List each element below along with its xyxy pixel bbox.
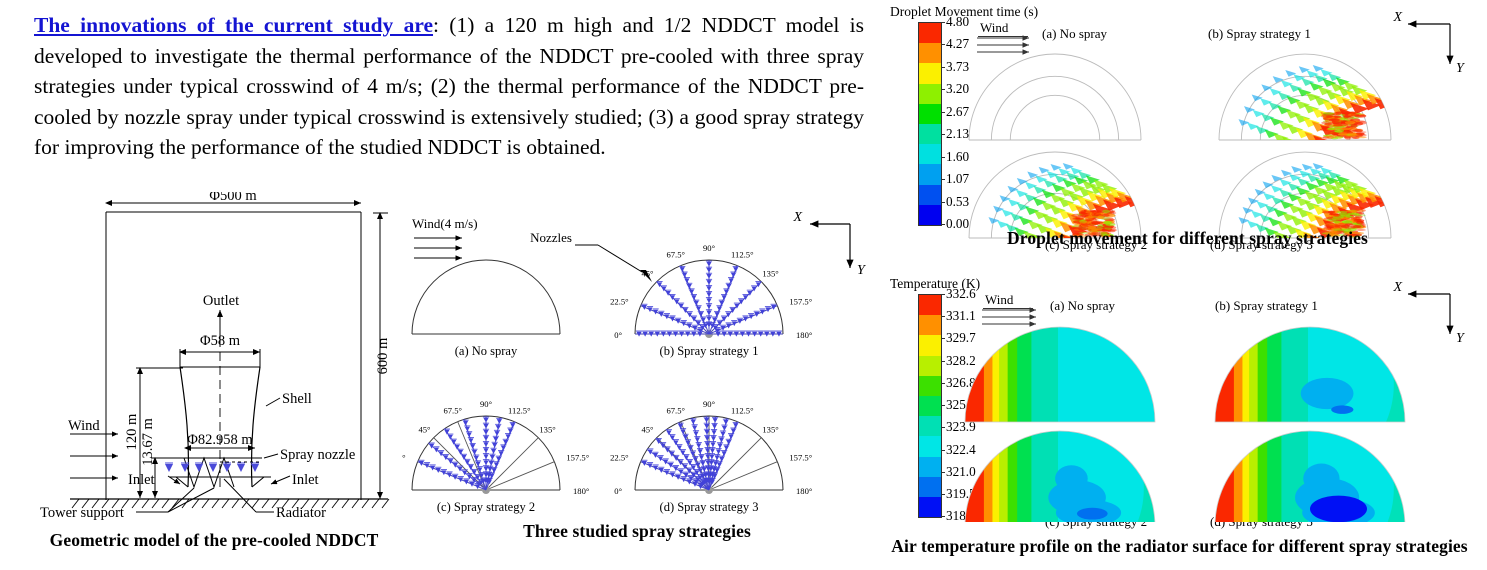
nozzle-glyph: [470, 443, 476, 449]
nozzle-glyph: [492, 442, 498, 448]
nozzle-glyph: [653, 309, 659, 315]
colorbar-tick-label: 4.80: [946, 14, 969, 30]
droplet-movement-figure: Droplet Movement time (s) 4.804.273.733.…: [890, 4, 1485, 262]
nozzle-glyph: [716, 306, 722, 312]
nozzle-glyph: [503, 439, 509, 445]
nozzle-glyph: [675, 318, 681, 324]
nozzle-glyph: [686, 323, 692, 329]
droplet-deposit: [1327, 218, 1337, 221]
nozzle-glyph: [728, 434, 734, 440]
polar-spoke: [709, 438, 761, 490]
nozzle-glyph: [494, 430, 500, 436]
nozzle-glyph: [658, 311, 664, 317]
colorbar-segment: [919, 104, 941, 124]
droplet-deposit: [1333, 214, 1340, 217]
geo-label-inlet-left: Inlet: [128, 472, 155, 488]
geo-label-tower-height: 120 m: [124, 413, 140, 450]
nozzle-glyph: [718, 437, 724, 443]
colorbar-segment: [919, 84, 941, 104]
droplet-streak: [1248, 197, 1259, 204]
colorbar-tick-mark: [941, 472, 945, 473]
nozzle-glyph: [464, 426, 470, 432]
droplet-deposit: [1342, 220, 1352, 223]
droplet-deposit: [1345, 134, 1355, 137]
nozzle-glyph: [692, 456, 698, 462]
nozzle-glyph: [641, 460, 647, 466]
colorbar-tick-label: 332.6: [946, 286, 976, 302]
droplet-deposit: [1323, 112, 1335, 114]
temperature-panel-0: [963, 325, 1157, 424]
droplet-deposit: [1102, 210, 1110, 213]
nozzle-glyph: [721, 450, 727, 456]
nozzle-glyph: [711, 429, 717, 435]
nozzle-glyph: [496, 418, 502, 424]
temperature-figure: Temperature (K) 332.6331.1329.7328.2326.…: [890, 276, 1485, 538]
colorbar-segment: [919, 23, 941, 43]
droplet-deposit: [1321, 121, 1332, 124]
polar-angle-tick: 90°: [703, 243, 716, 253]
nozzle-glyph: [700, 460, 706, 466]
spray-strategies-figure: Wind(4 m/s) (a) No spray Nozzles X Y 0°2…: [402, 212, 872, 522]
geo-label-radiator-dia: Φ82.958 m: [187, 432, 253, 448]
temperature-field: [963, 325, 1157, 424]
droplet-panel-0: [969, 54, 1141, 140]
temperature-panel-label-a: (a) No spray: [1050, 298, 1115, 314]
nozzle-glyph: [435, 467, 441, 473]
colorbar-segment: [919, 356, 941, 376]
polar-angle-tick: 157.5°: [789, 297, 812, 307]
droplet-streak: [1243, 207, 1254, 214]
nozzle-glyph: [483, 454, 489, 460]
droplet-deposit: [1334, 129, 1344, 132]
droplet-streak: [1255, 189, 1266, 196]
nozzle-glyph: [675, 474, 681, 480]
nozzle-glyph: [441, 470, 447, 476]
droplet-deposit: [1344, 115, 1352, 117]
nozzle-glyph: [684, 278, 690, 284]
nozzle-glyph: [765, 307, 771, 313]
temperature-band: [1281, 325, 1312, 424]
polar-angle-tick: 90°: [480, 399, 493, 409]
droplet-deposit: [1351, 113, 1360, 116]
polar-angle-tick: 157.5°: [789, 453, 812, 463]
colorbar-segment: [919, 396, 941, 416]
nozzle-glyph: [716, 462, 722, 468]
droplet-deposit: [1085, 216, 1093, 218]
colorbar-tick-mark: [941, 316, 945, 317]
colorbar-tick-mark: [941, 516, 945, 517]
colorbar-segment: [919, 205, 941, 225]
polar-angle-tick: 22.5°: [402, 453, 406, 463]
nozzle-glyph: [721, 425, 727, 431]
temperature-coldest-core: [1331, 405, 1353, 414]
nozzle-glyph: [495, 424, 501, 430]
spray-panel-c: 0°22.5°45°67.5°90°112.5°135°157.5°180°(c…: [402, 399, 590, 514]
nozzle-glyph: [490, 448, 496, 454]
temperature-coldest-core: [1077, 508, 1108, 520]
nozzle-glyph: [710, 442, 716, 448]
droplet-contours: [950, 40, 1485, 245]
temperature-cool-pool: [1303, 464, 1339, 494]
temperature-panel-2: [963, 429, 1157, 522]
droplet-deposit: [1353, 217, 1360, 220]
colorbar-segment: [919, 376, 941, 396]
polar-angle-tick: 0°: [614, 486, 622, 496]
droplet-streak: [1000, 195, 1011, 202]
polar-angle-tick: 45°: [641, 424, 654, 434]
nozzle-glyph: [705, 448, 711, 454]
droplet-deposit: [1331, 121, 1340, 124]
polar-angle-tick: 180°: [573, 486, 590, 496]
nozzle-glyph: [719, 300, 725, 306]
nozzle-glyph: [669, 472, 675, 478]
colorbar-segment: [919, 416, 941, 436]
nozzle-glyph: [698, 454, 704, 460]
nozzles-label: Nozzles: [530, 230, 572, 245]
nozzle-glyph: [647, 307, 653, 313]
temperature-panel-3: [1213, 429, 1407, 522]
droplet-deposit: [1072, 218, 1084, 220]
droplet-axis-x-label: X: [1392, 12, 1402, 25]
temperature-caption: Air temperature profile on the radiator …: [872, 536, 1487, 557]
nozzle-glyph: [706, 279, 712, 285]
nozzle-glyph: [510, 422, 516, 428]
nozzle-glyph: [647, 463, 653, 469]
nozzle-glyph: [706, 273, 712, 279]
nozzle-glyph: [695, 306, 701, 312]
spray-strategies-caption: Three studied spray strategies: [402, 521, 872, 542]
polar-angle-tick: 180°: [796, 486, 813, 496]
nozzle-glyph: [771, 304, 777, 310]
temperature-panel-1: [1213, 325, 1407, 424]
nozzle-glyph: [483, 417, 489, 423]
inlet-leader-right: [271, 476, 290, 484]
droplet-streak: [1374, 98, 1393, 109]
nozzle-glyph: [737, 318, 743, 324]
colorbar-segment: [919, 295, 941, 315]
polar-angle-tick: 22.5°: [610, 453, 629, 463]
droplet-deposit: [1321, 115, 1333, 118]
nozzle-glyph: [706, 310, 712, 316]
nozzle-glyph: [715, 449, 721, 455]
colorbar-tick-mark: [941, 361, 945, 362]
nozzle-glyph: [706, 298, 712, 304]
spray-nozzle-glyphs: [165, 463, 259, 472]
nozzle-glyph: [723, 419, 729, 425]
nozzle-glyph: [726, 439, 732, 445]
polar-angle-tick: 67.5°: [666, 250, 685, 260]
nozzle-glyph: [500, 445, 506, 451]
droplet-streak: [993, 206, 1004, 213]
nozzle-glyph: [717, 443, 723, 449]
droplet-deposit: [1356, 221, 1364, 224]
nozzle-glyph: [754, 311, 760, 317]
colorbar-segment: [919, 335, 941, 355]
colorbar-segment: [919, 63, 941, 83]
nozzle-glyph: [696, 443, 702, 449]
droplet-deposit: [1089, 223, 1097, 226]
droplet-streak: [1273, 133, 1288, 142]
droplet-deposit: [1354, 214, 1366, 216]
spray-panel-d: 0°22.5°45°67.5°90°112.5°135°157.5°180°(d…: [610, 399, 813, 514]
temperature-cool-pool: [1301, 378, 1354, 409]
spray-panel-label-c: (c) Spray strategy 2: [437, 500, 535, 514]
geo-label-domain-height: 600 m: [375, 337, 391, 374]
spray-axis-x-label: X: [792, 212, 802, 225]
nozzle-glyph: [726, 323, 732, 329]
temperature-band: [1058, 325, 1100, 424]
nozzle-glyph: [471, 449, 477, 455]
geo-label-inlet-right: Inlet: [292, 472, 319, 488]
droplet-deposit: [1336, 111, 1344, 113]
nozzle-glyph: [691, 294, 697, 300]
nozzle-glyph: [720, 325, 726, 331]
nozzle-glyph: [730, 428, 736, 434]
nozzle-glyph: [489, 454, 495, 460]
nozzle-glyph: [692, 425, 698, 431]
nozzle-glyph: [641, 304, 647, 310]
droplet-deposit: [1106, 223, 1116, 226]
nozzle-glyph: [493, 462, 499, 468]
droplet-deposit: [1356, 136, 1366, 138]
temperature-band: [1096, 325, 1157, 424]
nozzle-glyph: [759, 309, 765, 315]
spray-panel-label-b: (b) Spray strategy 1: [660, 344, 759, 358]
colorbar-tick-mark: [941, 383, 945, 384]
nozzle-glyph: [706, 304, 712, 310]
nozzle-glyph: [733, 266, 739, 272]
nozzle-glyph: [681, 321, 687, 327]
guide-arc: [991, 76, 1118, 140]
guide-arc: [1010, 95, 1099, 140]
nozzle-glyph: [462, 420, 468, 426]
temperature-field: [1213, 429, 1407, 522]
nozzles-leader: [575, 245, 642, 272]
colorbar-segment: [919, 497, 941, 517]
geo-label-throat: Φ58 m: [200, 333, 241, 349]
temperature-panel-label-b: (b) Spray strategy 1: [1215, 298, 1318, 314]
nozzle-glyph: [714, 311, 720, 317]
temperature-band: [1031, 325, 1062, 424]
polar-angle-tick: 157.5°: [566, 453, 589, 463]
polar-angle-tick: 0°: [614, 330, 622, 340]
geometric-model-caption: Geometric model of the pre-cooled NDDCT: [28, 530, 400, 551]
geo-label-inlet-height: 13.67 m: [140, 418, 156, 466]
colorbar-segment: [919, 164, 941, 184]
spray-wind-label: Wind(4 m/s): [412, 216, 478, 231]
temperature-field: [1213, 325, 1407, 424]
nozzle-glyph: [468, 438, 474, 444]
nozzle-glyph: [698, 311, 704, 317]
spray-panel-a: [412, 260, 560, 334]
colorbar-gradient: [918, 294, 942, 518]
temperature-field: [963, 429, 1157, 522]
nozzle-glyph: [496, 456, 502, 462]
polar-angle-tick: 112.5°: [731, 406, 754, 416]
nozzle-glyph: [704, 441, 710, 447]
polar-angle-tick: 135°: [762, 424, 779, 434]
spray-wind-arrows: [414, 238, 462, 258]
nozzle-glyph: [697, 448, 703, 454]
nozzle-glyph: [714, 455, 720, 461]
nozzle-glyph: [505, 434, 511, 440]
polar-angle-tick: 112.5°: [508, 406, 531, 416]
guide-arc: [969, 54, 1141, 140]
nozzle-glyph: [483, 441, 489, 447]
droplet-deposit: [1346, 131, 1353, 133]
nozzle-glyph: [706, 285, 712, 291]
nozzle-glyph: [726, 283, 732, 289]
droplet-deposit: [1337, 211, 1348, 214]
spray-nozzle-leader: [264, 454, 278, 458]
intro-lead: The innovations of the current study are: [34, 13, 433, 37]
nozzle-glyph: [733, 422, 739, 428]
spray-axis-indicator: [810, 224, 850, 268]
nozzle-glyph: [719, 456, 725, 462]
temperature-contours: [950, 314, 1485, 522]
droplet-deposit: [1356, 132, 1365, 135]
geo-label-outlet: Outlet: [203, 293, 239, 309]
colorbar-tick-mark: [941, 224, 945, 225]
nozzle-glyph: [706, 261, 712, 267]
nozzle-glyph: [653, 465, 659, 471]
nozzle-glyph: [430, 465, 436, 471]
colorbar-tick-mark: [941, 338, 945, 339]
droplet-panel-1: [1219, 54, 1393, 147]
nozzle-glyph: [742, 316, 748, 322]
nozzle-glyph: [706, 291, 712, 297]
colorbar-segment: [919, 457, 941, 477]
nozzle-glyph: [728, 278, 734, 284]
spray-panel-label-d: (d) Spray strategy 3: [660, 500, 759, 514]
nozzle-glyph: [498, 450, 504, 456]
polar-angle-tick: 180°: [796, 330, 813, 340]
nozzle-glyph: [679, 266, 685, 272]
droplet-streak: [1304, 132, 1322, 143]
polar-angle-tick: 22.5°: [610, 297, 629, 307]
droplet-deposit: [1328, 127, 1336, 130]
colorbar-tick-mark: [941, 89, 945, 90]
droplet-deposit: [1090, 210, 1097, 212]
colorbar-tick-mark: [941, 134, 945, 135]
nozzle-glyph: [693, 431, 699, 437]
nozzle-glyph: [483, 429, 489, 435]
nozzle-glyph: [730, 272, 736, 278]
geo-label-spray-nozzle: Spray nozzle: [280, 447, 355, 463]
nozzle-glyph: [483, 466, 489, 472]
colorbar-tick-mark: [941, 67, 945, 68]
nozzle-glyph: [721, 294, 727, 300]
nozzle-glyph: [688, 289, 694, 295]
colorbar-tick-mark: [941, 112, 945, 113]
nozzle-glyph: [664, 470, 670, 476]
nozzle-glyph: [507, 428, 513, 434]
droplet-deposit: [1326, 135, 1337, 138]
nozzle-glyph: [483, 423, 489, 429]
colorbar-gradient: [918, 22, 942, 226]
droplet-caption: Droplet movement for different spray str…: [890, 228, 1485, 249]
geometric-model-figure: Φ500 m Outlet Φ58 m Φ82.958 m Shell Spra…: [28, 192, 398, 522]
droplet-deposit: [1345, 121, 1356, 124]
geo-label-radiator: Radiator: [276, 505, 326, 521]
nozzle-glyph: [424, 463, 430, 469]
nozzle-glyph: [466, 432, 472, 438]
colorbar-tick-mark: [941, 450, 945, 451]
nozzle-glyph: [712, 417, 718, 423]
nozzle-glyph: [712, 317, 718, 323]
droplet-deposit: [1355, 210, 1365, 212]
spray-axis-y-label: Y: [857, 263, 867, 278]
colorbar-segment: [919, 144, 941, 164]
nozzle-glyph: [686, 283, 692, 289]
geo-label-shell: Shell: [282, 391, 312, 407]
nozzle-glyph: [458, 477, 464, 483]
polar-angle-tick: 135°: [762, 268, 779, 278]
nozzle-glyph: [709, 448, 715, 454]
droplet-streak: [1244, 106, 1255, 113]
colorbar-segment: [919, 436, 941, 456]
nozzle-glyph: [711, 423, 717, 429]
polar-angle-tick: 45°: [418, 424, 431, 434]
geo-label-domain-width: Φ500 m: [209, 192, 257, 204]
nozzle-glyph: [694, 437, 700, 443]
nozzle-glyph: [452, 474, 458, 480]
nozzle-glyph: [446, 472, 452, 478]
polar-angle-tick: 112.5°: [731, 250, 754, 260]
nozzle-glyph: [748, 314, 754, 320]
temperature-coldest-core: [1310, 496, 1367, 522]
colorbar-tick-mark: [941, 427, 945, 428]
polar-angle-tick: 67.5°: [443, 406, 462, 416]
colorbar-tick-mark: [941, 494, 945, 495]
droplet-deposit: [1329, 118, 1340, 121]
polar-angle-tick: 67.5°: [666, 406, 685, 416]
nozzle-glyph: [700, 317, 706, 323]
temperature-cool-pool: [1055, 465, 1088, 491]
colorbar-tick-mark: [941, 157, 945, 158]
spray-panel-b: 0°22.5°45°67.5°90°112.5°135°157.5°180°(b…: [610, 243, 813, 358]
colorbar-segment: [919, 315, 941, 335]
nozzle-glyph: [658, 467, 664, 473]
nozzle-glyph: [483, 447, 489, 453]
colorbar-segment: [919, 477, 941, 497]
colorbar-tick-mark: [941, 405, 945, 406]
nozzle-glyph: [706, 267, 712, 273]
colorbar-segment: [919, 185, 941, 205]
polar-angle-tick: 135°: [539, 424, 556, 434]
nozzle-glyph: [731, 321, 737, 327]
nozzle-glyph: [723, 289, 729, 295]
droplet-deposit: [1354, 129, 1363, 132]
nozzle-glyph: [706, 316, 712, 322]
colorbar-tick-mark: [941, 22, 945, 23]
droplet-deposit: [1333, 124, 1343, 126]
nozzle-glyph: [720, 431, 726, 437]
nozzle-glyph: [483, 435, 489, 441]
nozzle-glyph: [493, 436, 499, 442]
nozzle-glyph: [690, 419, 696, 425]
colorbar-tick-mark: [941, 202, 945, 203]
droplet-deposit: [1097, 215, 1104, 219]
nozzle-glyph: [669, 316, 675, 322]
nozzle-glyph: [488, 460, 494, 466]
polar-angle-tick: 90°: [703, 399, 716, 409]
spray-panel-label-a: (a) No spray: [455, 344, 518, 358]
colorbar-segment: [919, 124, 941, 144]
nozzle-glyph: [710, 436, 716, 442]
colorbar-segment: [919, 43, 941, 63]
droplet-deposit: [1322, 211, 1334, 213]
